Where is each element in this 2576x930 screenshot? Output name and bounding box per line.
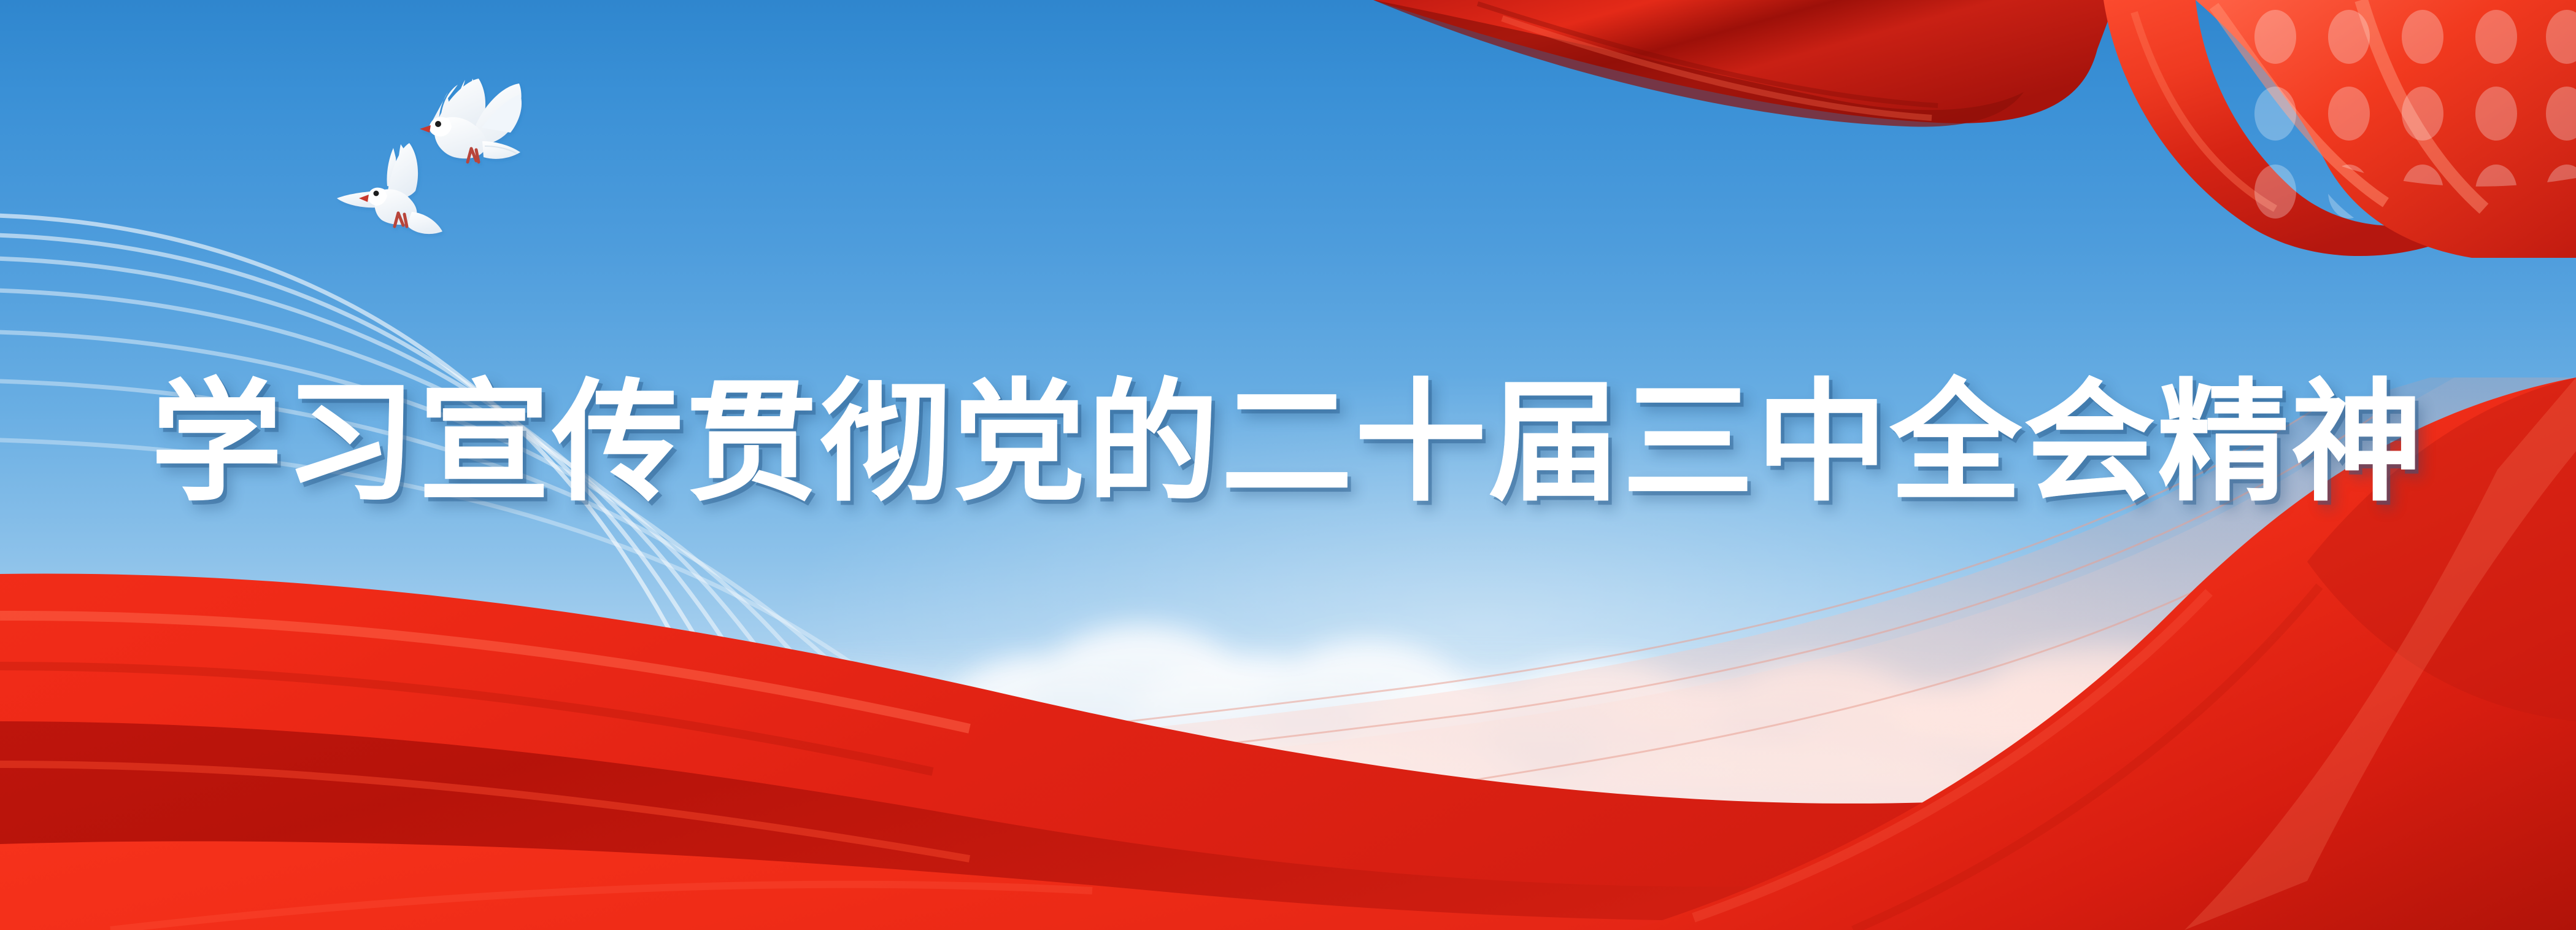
banner-title-wrapper: 学习宣传贯彻党的二十届三中全会精神 [0,376,2576,514]
banner-root: 学习宣传贯彻党的二十届三中全会精神 [0,0,2576,930]
red-silk-ribbon [1318,0,2576,258]
banner-title: 学习宣传贯彻党的二十届三中全会精神 [151,376,2425,514]
white-dove-left [334,114,488,246]
